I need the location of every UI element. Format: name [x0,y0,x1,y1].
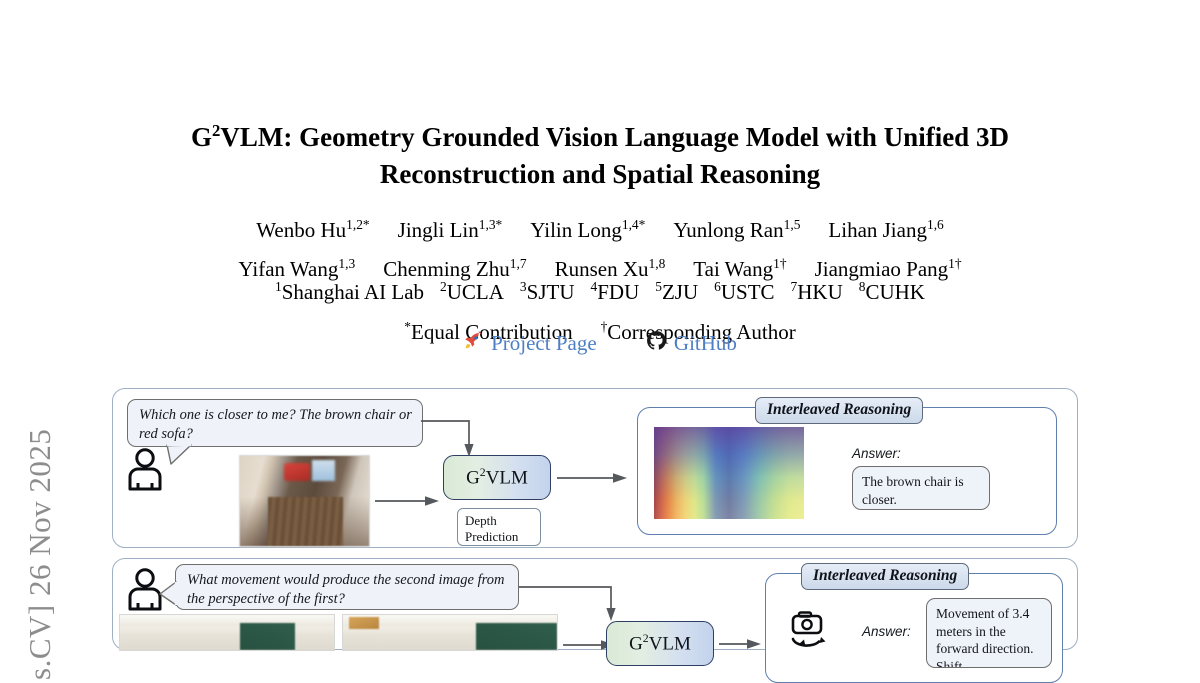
affiliation: 7HKU [791,270,843,309]
answer-label-1: Answer: [852,446,901,461]
arrow-question-to-model-2 [519,577,625,623]
github-icon [646,330,667,357]
depth-prediction-line1: Depth [465,513,533,529]
model-name-2: G2VLM [629,632,691,655]
bubble-tail-1 [165,445,209,467]
answer-label-2: Answer: [862,624,911,639]
arrow-model-to-reasoning-1 [557,470,631,486]
user-question-text-1: Which one is closer to me? The brown cha… [139,407,412,442]
answer-box-1: The brown chair is closer. [852,466,990,510]
author-row-1: Wenbo Hu1,2*Jingli Lin1,3*Yilin Long1,4*… [120,208,1080,247]
model-name-1: G2VLM [466,466,528,489]
project-links: Project Page GitHub [120,330,1080,357]
arrow-model-to-reasoning-2 [719,636,763,652]
arrow-question-to-model-1 [421,407,485,459]
github-link[interactable]: GitHub [646,330,737,357]
answer-box-2: Movement of 3.4 meters in the forward di… [926,598,1052,668]
model-box-1: G2VLM [443,455,551,500]
answer-text-1: The brown chair is closer. [862,474,964,507]
author: Wenbo Hu1,2* [256,208,369,247]
affiliation: 8CUHK [859,270,925,309]
page-title: G2VLM: Geometry Grounded Vision Language… [120,112,1080,193]
teaser-figure: Which one is closer to me? The brown cha… [112,388,1080,650]
rocket-icon [463,330,484,357]
input-photo-view-1 [119,614,335,651]
title-line-2: Reconstruction and Spatial Reasoning [380,159,820,189]
affiliation: 6USTC [714,270,774,309]
user-icon [125,447,165,496]
arrow-photo-to-model-1 [375,493,441,509]
arxiv-stamp: s.CV] 26 Nov 2025 [0,0,90,648]
depth-prediction-line2: Prediction [465,529,533,545]
affiliation: 2UCLA [440,270,504,309]
user-question-bubble-1: Which one is closer to me? The brown cha… [127,399,423,447]
author: Yunlong Ran1,5 [673,208,800,247]
affiliation: 1Shanghai AI Lab [275,270,424,309]
project-page-link[interactable]: Project Page [463,330,597,357]
camera-rotation-icon [790,608,836,657]
user-question-bubble-2: What movement would produce the second i… [175,564,519,610]
input-photo-hallway [239,455,370,547]
affiliation: 4FDU [591,270,640,309]
example-panel-depth: Which one is closer to me? The brown cha… [112,388,1078,548]
affiliation: 5ZJU [655,270,698,309]
user-question-text-2: What movement would produce the second i… [187,572,504,607]
reasoning-badge-2: Interleaved Reasoning [801,563,969,590]
answer-text-2: Movement of 3.4 meters in the forward di… [936,606,1033,668]
author: Lihan Jiang1,6 [828,208,943,247]
arxiv-stamp-text: s.CV] 26 Nov 2025 [22,260,58,680]
reasoning-badge-1: Interleaved Reasoning [755,397,923,424]
author: Yilin Long1,4* [530,208,645,247]
model-box-2: G2VLM [606,621,714,666]
depth-map-output [654,427,804,519]
example-panel-motion: What movement would produce the second i… [112,558,1078,650]
reasoning-box-1: Answer: The brown chair is closer. [637,407,1057,535]
github-label: GitHub [674,331,737,356]
author: Jingli Lin1,3* [398,208,503,247]
project-page-label: Project Page [491,331,597,356]
title-line-1: G2VLM: Geometry Grounded Vision Language… [191,122,1009,152]
affiliation: 3SJTU [520,270,575,309]
bubble-tail-2 [159,581,179,607]
affiliation-row: 1Shanghai AI Lab2UCLA3SJTU4FDU5ZJU6USTC7… [120,270,1080,309]
depth-prediction-label: Depth Prediction [457,508,541,546]
